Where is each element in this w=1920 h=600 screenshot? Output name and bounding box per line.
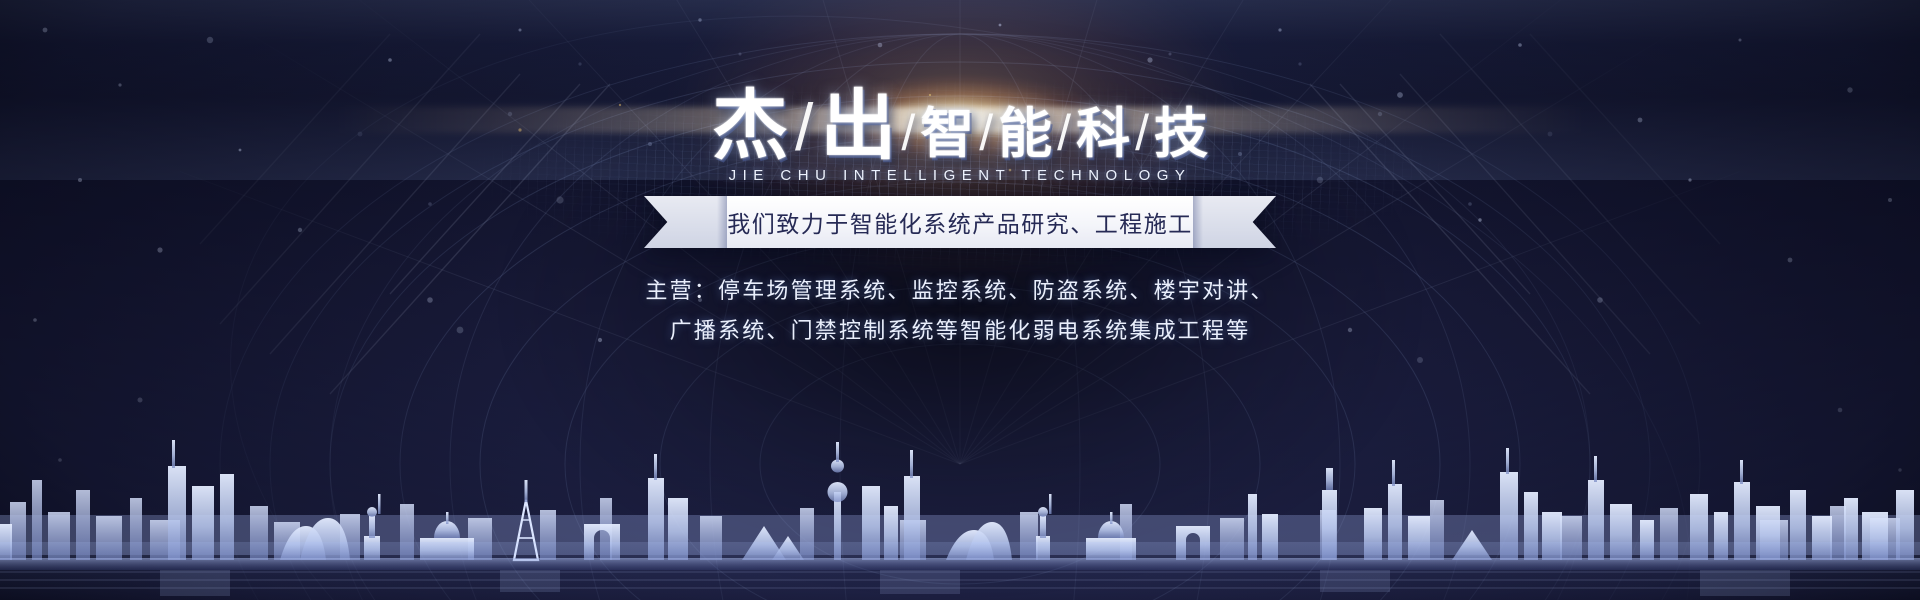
title-char-4: 能	[998, 107, 1052, 161]
ribbon-tail-right	[1193, 196, 1276, 248]
service-description: 主营：停车场管理系统、监控系统、防盗系统、楼宇对讲、 广播系统、门禁控制系统等智…	[410, 272, 1510, 352]
brand-title: 杰 / 出 / 智 / 能 / 科 / 技	[712, 88, 1208, 164]
description-line-2: 广播系统、门禁控制系统等智能化弱电系统集成工程等	[410, 312, 1510, 352]
ribbon-text: 我们致力于智能化系统产品研究、工程施工	[727, 205, 1193, 239]
title-char-2: 出	[820, 88, 896, 164]
title-slash-1: /	[788, 94, 820, 160]
title-char-6: 技	[1154, 107, 1208, 161]
ribbon-center: 我们致力于智能化系统产品研究、工程施工	[727, 196, 1193, 248]
city-skyline-icon	[0, 420, 1920, 600]
ribbon-banner: 我们致力于智能化系统产品研究、工程施工	[644, 196, 1276, 248]
title-slash-2: /	[896, 108, 920, 158]
title-char-1: 杰	[712, 88, 788, 164]
title-slash-3: /	[974, 108, 998, 158]
title-char-3: 智	[920, 107, 974, 161]
hero-banner: 杰 / 出 / 智 / 能 / 科 / 技 JIE CHU INTELLIGEN…	[0, 0, 1920, 600]
ribbon-tail-left	[644, 196, 727, 248]
title-slash-5: /	[1130, 108, 1154, 158]
title-slash-4: /	[1052, 108, 1076, 158]
english-subtitle: JIE CHU INTELLIGENT TECHNOLOGY	[729, 167, 1192, 184]
description-line-1: 主营：停车场管理系统、监控系统、防盗系统、楼宇对讲、	[410, 272, 1510, 312]
title-char-5: 科	[1076, 107, 1130, 161]
